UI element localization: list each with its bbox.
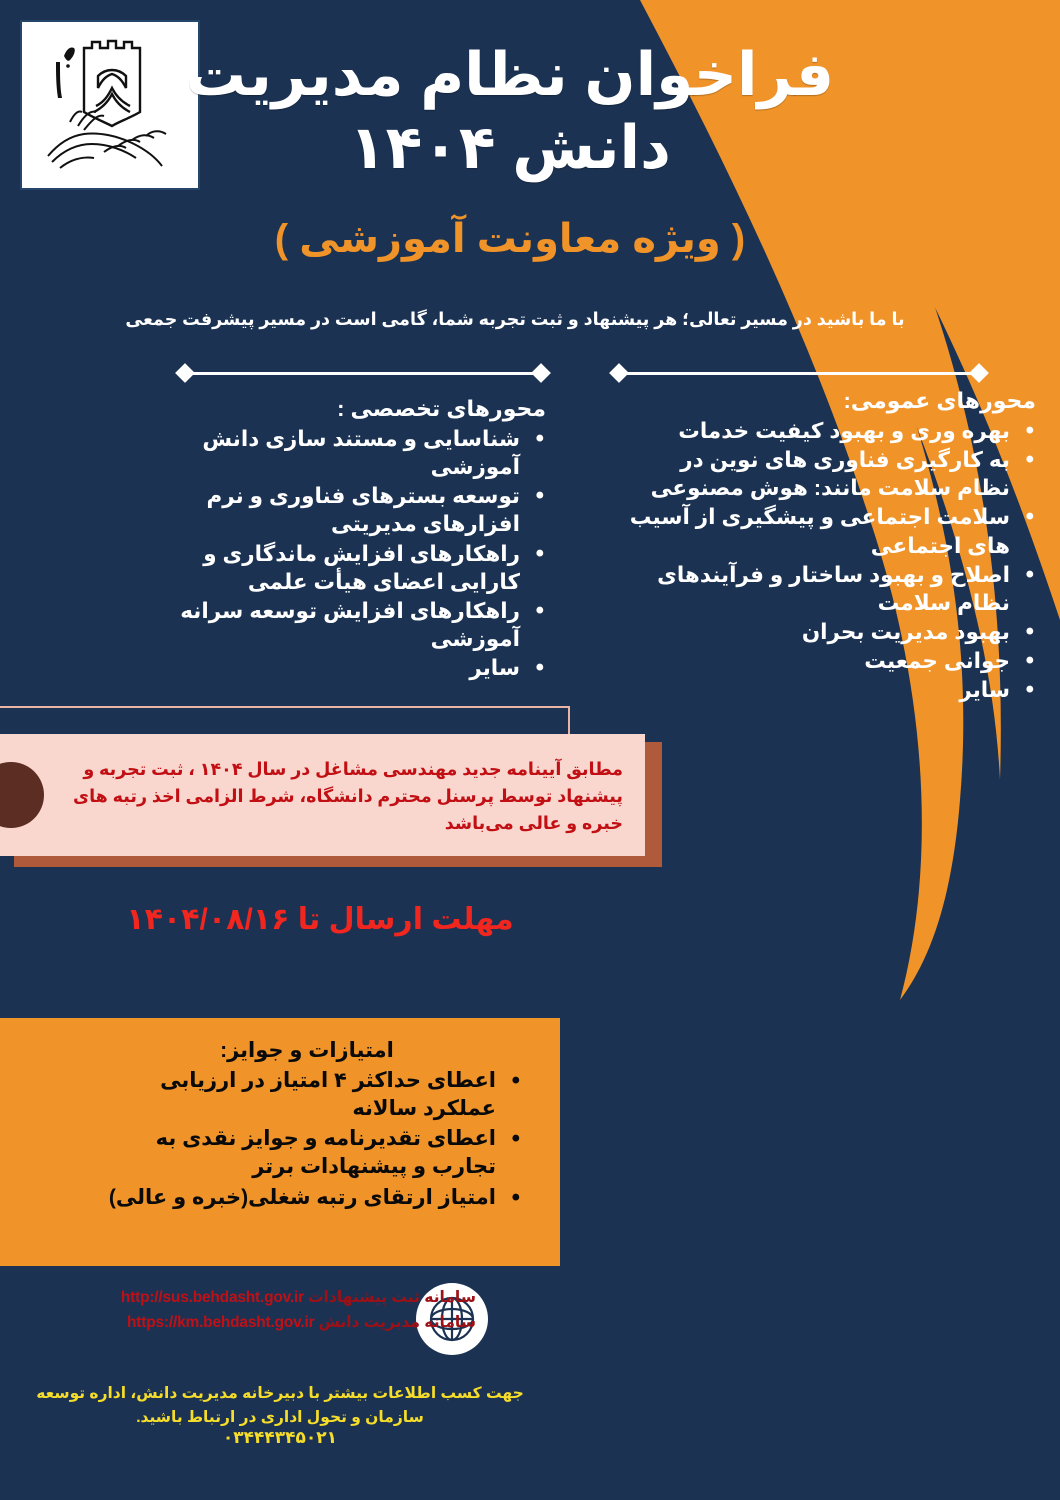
awards-content: امتیازات و جوایز: اعطای حداکثر ۴ امتیاز … [92,1038,522,1214]
list-item: بهره وری و بهبود کیفیت خدمات [628,417,1036,445]
bam-university-logo-mark [26,26,194,184]
list-item: به کارگیری فناوری های نوین در نظام سلامت… [628,446,1036,502]
title-block: فراخوان نظام مدیریت دانش ۱۴۰۴ ( ویژه معا… [180,38,840,262]
list-item: سلامت اجتماعی و پیشگیری از آسیب های اجتم… [628,503,1036,559]
general-axes-heading: محورهای عمومی: [628,388,1036,414]
specialized-axes-list: شناسایی و مستند سازی دانش آموزشی توسعه ب… [138,425,546,682]
contact-phone: ۰۳۴۴۴۳۴۵۰۲۱ [20,1428,540,1448]
contact-note: جهت کسب اطلاعات بیشتر با دبیرخانه مدیریت… [20,1382,540,1430]
divider-general-axes [612,366,986,380]
deadline-label: مهلت ارسال تا ۱۴۰۴/۰۸/۱۶ [60,902,580,937]
knowledge-management-link-row[interactable]: سامانه مدیریت دانش https://km.behdasht.g… [127,1313,476,1332]
link-label: سامانه مدیریت دانش [318,1313,476,1332]
list-item: راهکارهای افزایش توسعه سرانه آموزشی [138,597,546,653]
list-item: بهبود مدیریت بحران [628,618,1036,646]
callout-frame-accent [0,706,570,736]
callout-text: مطابق آیینامه جدید مهندسی مشاغل در سال ۱… [63,756,623,837]
list-item: سایر [628,676,1036,704]
awards-list: اعطای حداکثر ۴ امتیاز در ارزیابی عملکرد … [92,1067,522,1212]
list-item: سایر [138,654,546,682]
page-title: فراخوان نظام مدیریت دانش ۱۴۰۴ [180,38,840,184]
poster-root: فراخوان نظام مدیریت دانش ۱۴۰۴ ( ویژه معا… [0,0,1060,1500]
general-axes-list: بهره وری و بهبود کیفیت خدمات به کارگیری … [628,417,1036,705]
university-logo [20,20,200,190]
link-url[interactable]: http://sus.behdasht.gov.ir [121,1289,304,1307]
divider-bar [622,372,976,375]
submission-system-link-row[interactable]: سامانه ثبت پیشنهادات http://sus.behdasht… [121,1288,476,1307]
page-subtitle: ( ویژه معاونت آموزشی ) [180,216,840,262]
awards-band: امتیازات و جوایز: اعطای حداکثر ۴ امتیاز … [0,1018,560,1266]
list-item: راهکارهای افزایش ماندگاری و کارایی اعضای… [138,540,546,596]
specialized-axes-heading: محورهای تخصصی : [138,396,546,422]
specialized-axes-column: محورهای تخصصی : شناسایی و مستند سازی دان… [138,396,546,683]
list-item: جوانی جمعیت [628,647,1036,675]
list-item: اعطای حداکثر ۴ امتیاز در ارزیابی عملکرد … [92,1067,522,1123]
link-label: سامانه ثبت پیشنهادات [308,1288,476,1307]
tagline: با ما باشید در مسیر تعالی؛ هر پیشنهاد و … [110,306,920,332]
general-axes-column: محورهای عمومی: بهره وری و بهبود کیفیت خد… [628,388,1036,706]
list-item: امتیاز ارتقای رتبه شغلی(خبره و عالی) [92,1184,522,1212]
link-url[interactable]: https://km.behdasht.gov.ir [127,1314,314,1332]
list-item: اعطای تقدیرنامه و جوایز نقدی به تجارب و … [92,1125,522,1181]
list-item: توسعه بسترهای فناوری و نرم افزارهای مدیر… [138,482,546,538]
list-item: شناسایی و مستند سازی دانش آموزشی [138,425,546,481]
diamond-cap-right [969,363,989,383]
divider-bar [188,372,538,375]
diamond-cap-right [531,363,551,383]
callout-box: مطابق آیینامه جدید مهندسی مشاغل در سال ۱… [0,734,645,856]
list-item: اصلاح و بهبود ساختار و فرآیندهای نظام سل… [628,561,1036,617]
divider-specialized-axes [178,366,548,380]
callout-circle-accent [0,762,44,828]
awards-heading: امتیازات و جوایز: [92,1038,522,1063]
